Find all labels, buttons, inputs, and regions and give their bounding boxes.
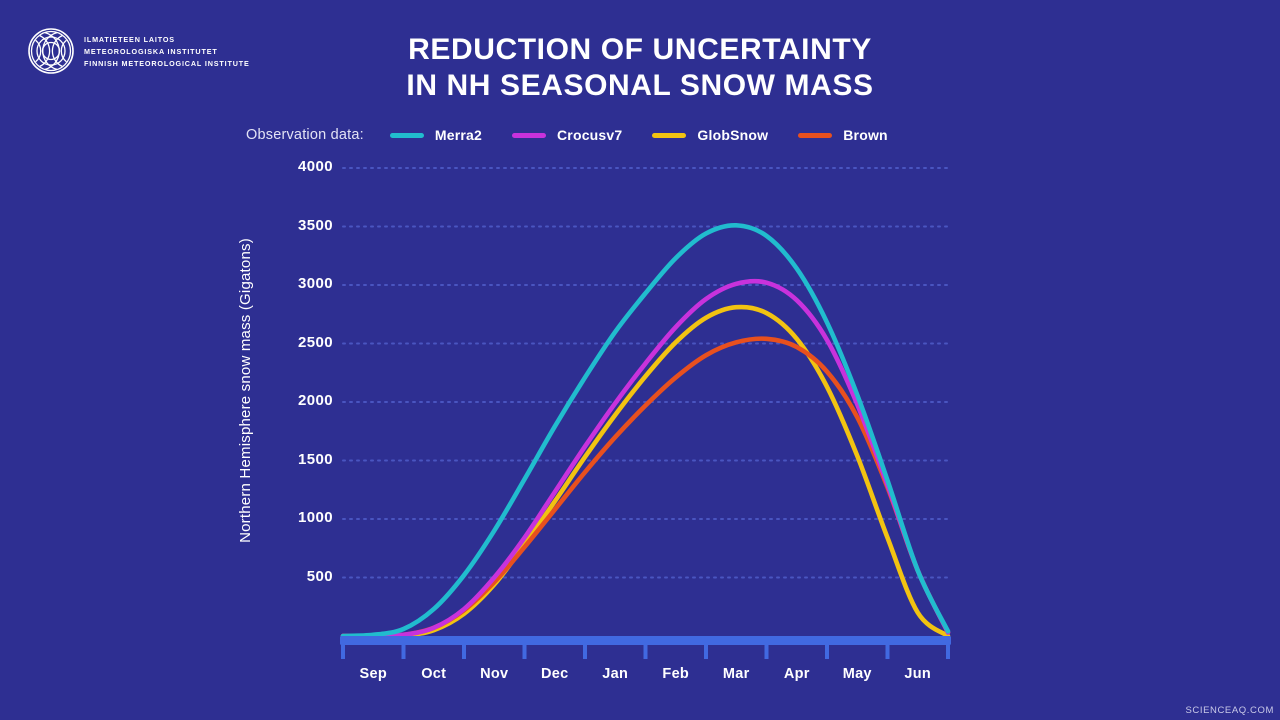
x-axis-tick [704,645,708,659]
x-axis-tick [341,645,345,659]
x-axis-tick [765,645,769,659]
y-axis-tick-label: 3000 [263,275,333,292]
x-axis-tick-label-may: May [827,666,887,682]
x-axis-tick [644,645,648,659]
y-axis-tick-label: 1000 [263,509,333,526]
chart-plot-area [0,0,1280,720]
y-axis-tick-labels: 4000350030002500200015001000500 [263,0,333,720]
x-axis-tick [946,645,950,659]
x-axis [340,636,951,659]
x-axis-tick-label-jun: Jun [888,666,948,682]
y-axis-tick-label: 1500 [263,451,333,468]
x-axis-tick [886,645,890,659]
x-axis-tick-label-sep: Sep [343,666,403,682]
x-axis-tick-label-apr: Apr [767,666,827,682]
x-axis-tick [825,645,829,659]
x-axis-tick-label-mar: Mar [706,666,766,682]
watermark: SCIENCEAQ.COM [1185,705,1274,716]
series-line-merra2 [343,225,948,636]
x-axis-tick-label-oct: Oct [404,666,464,682]
y-axis-tick-label: 4000 [263,158,333,175]
series-line-globsnow [343,307,948,636]
y-axis-tick-label: 3500 [263,217,333,234]
x-axis-bar [340,636,951,645]
y-axis-tick-label: 500 [263,568,333,585]
x-axis-tick [583,645,587,659]
x-axis-tick [462,645,466,659]
y-axis-tick-label: 2000 [263,392,333,409]
x-axis-tick-label-nov: Nov [464,666,524,682]
x-axis-tick [402,645,406,659]
x-axis-tick-label-dec: Dec [525,666,585,682]
x-axis-tick [523,645,527,659]
series-line-brown [343,339,948,636]
x-axis-tick-label-feb: Feb [646,666,706,682]
y-axis-tick-label: 2500 [263,334,333,351]
x-axis-tick-label-jan: Jan [585,666,645,682]
chart-series-group [343,225,948,636]
